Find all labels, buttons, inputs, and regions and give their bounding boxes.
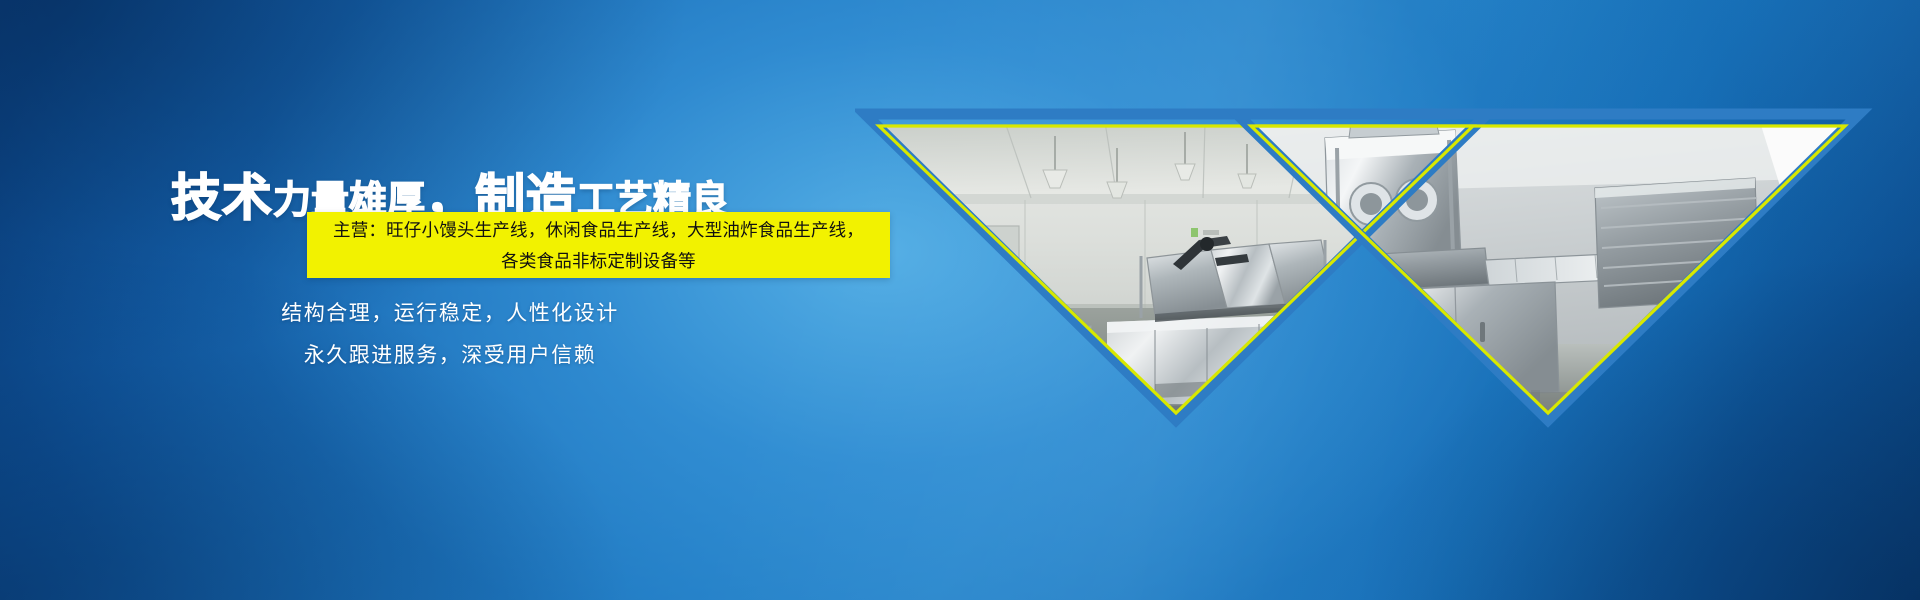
right-cabinet (1715, 286, 1849, 408)
banner-copy-block: 技术力量雄厚，制造工艺精良 主营：旺仔小馒头生产线，休闲食品生产线，大型油炸食品… (0, 0, 920, 600)
triangle-photo-collage (855, 108, 1875, 428)
highlight-box: 主营：旺仔小馒头生产线，休闲食品生产线，大型油炸食品生产线， 各类食品非标定制设… (307, 212, 890, 278)
highlight-line-1: 主营：旺仔小馒头生产线，休闲食品生产线，大型油炸食品生产线， (307, 212, 890, 247)
banner-subtitles: 结构合理，运行稳定，人性化设计 永久跟进服务，深受用户信赖 (0, 292, 900, 376)
headline-segment-1: 技术 (171, 169, 273, 227)
promo-banner: 技术力量雄厚，制造工艺精良 主营：旺仔小馒头生产线，休闲食品生产线，大型油炸食品… (0, 0, 1920, 600)
control-panel (1037, 326, 1095, 416)
highlight-line-2: 各类食品非标定制设备等 (307, 247, 890, 278)
subtitle-line-2: 永久跟进服务，深受用户信赖 (0, 334, 900, 376)
subtitle-line-1: 结构合理，运行稳定，人性化设计 (0, 292, 900, 334)
